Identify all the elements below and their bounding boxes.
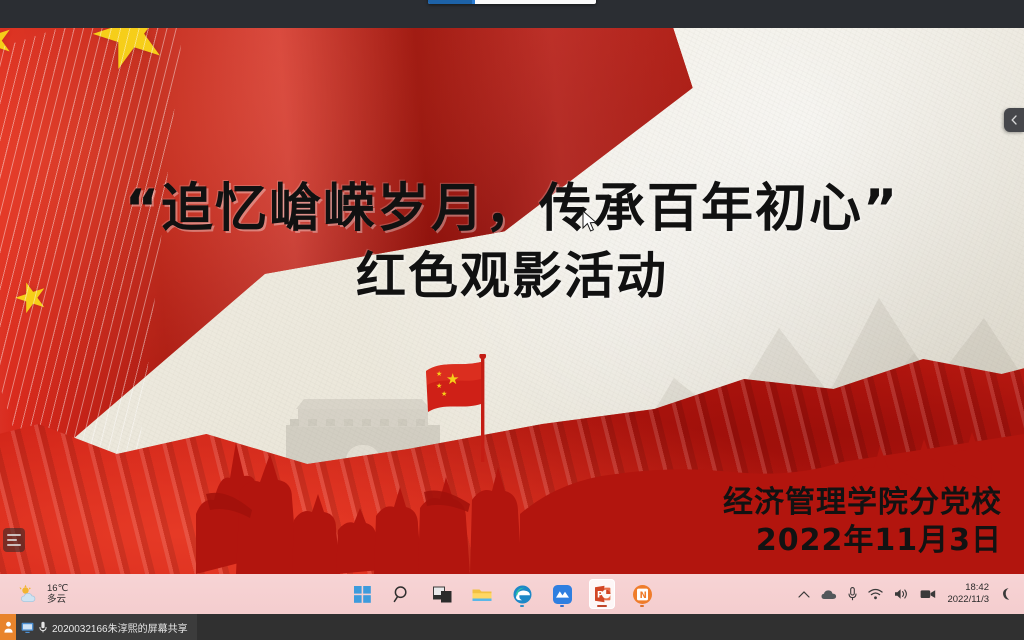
powerpoint-icon: P [594, 585, 611, 603]
cloud-icon [821, 589, 837, 600]
tencent-meeting-icon [553, 585, 572, 604]
task-view-button[interactable] [429, 579, 455, 609]
chevron-up-icon [798, 590, 810, 599]
slide-title-line-1: “追忆嵢嵘岁月，传承百年初心” [0, 178, 1024, 240]
slide-signature-block: 经济管理学院分党校 2022年11月3日 [723, 484, 1002, 560]
desktop-top-background [0, 0, 1024, 28]
edge-button[interactable] [509, 579, 535, 609]
slide-organization: 经济管理学院分党校 [723, 484, 1002, 522]
screen-share-bar[interactable]: 2020032166朱淳熙的屏幕共享 [0, 614, 1024, 640]
speaker-icon [894, 588, 909, 600]
chevron-left-glyph [1010, 115, 1018, 125]
show-hidden-icons[interactable] [798, 590, 810, 599]
screen-share-camera-icon [920, 588, 936, 600]
microphone-status[interactable] [848, 587, 857, 601]
screen-share-chip[interactable]: 2020032166朱淳熙的屏幕共享 [16, 614, 197, 640]
windows-taskbar[interactable]: 16℃ 多云 [0, 574, 1024, 614]
screen: ★ ★ ★ ★ ★ [0, 0, 1024, 640]
microphone-icon [848, 587, 857, 601]
system-tray: 18:42 2022/11/3 [784, 582, 1024, 606]
powerpoint-slide-show[interactable]: ★ ★ ★ ★ ★ [0, 28, 1024, 574]
taskbar-clock[interactable]: 18:42 2022/11/3 [947, 582, 989, 606]
moon-icon [1000, 587, 1012, 601]
svg-text:N: N [639, 590, 646, 600]
slide-date: 2022年11月3日 [723, 522, 1002, 560]
search-button[interactable] [389, 579, 415, 609]
meeting-toolbar-active-segment[interactable] [428, 0, 472, 4]
weather-temperature: 16℃ [47, 583, 68, 595]
start-button[interactable] [349, 579, 375, 609]
menu-line [7, 544, 21, 546]
active-window-indicator [597, 605, 607, 608]
running-indicator [560, 605, 564, 608]
powerpoint-button[interactable]: P [589, 579, 615, 609]
volume-status[interactable] [894, 588, 909, 600]
microphone-icon [39, 621, 47, 633]
notes-app-button[interactable]: N [629, 579, 655, 609]
network-status[interactable] [868, 588, 883, 600]
search-icon [393, 585, 411, 603]
menu-line [7, 539, 17, 541]
screen-share-label: 2020032166朱淳熙的屏幕共享 [52, 620, 188, 635]
meeting-toolbar-segment-divider [472, 0, 475, 4]
svg-text:P: P [597, 589, 603, 599]
slide-title-line-2: 红色观影活动 [0, 246, 1024, 306]
windows-logo-icon [354, 586, 371, 603]
onedrive-status[interactable] [821, 589, 837, 600]
hamburger-menu-icon[interactable] [3, 528, 25, 552]
onenote-icon: N [633, 585, 652, 604]
running-indicator [520, 605, 524, 608]
folder-icon [472, 586, 492, 603]
file-explorer-button[interactable] [469, 579, 495, 609]
clock-time: 18:42 [947, 582, 989, 594]
participant-glyph [4, 621, 13, 633]
taskbar-weather-widget[interactable]: 16℃ 多云 [0, 583, 220, 606]
clock-date: 2022/11/3 [947, 594, 989, 606]
meeting-app-button[interactable] [549, 579, 575, 609]
weather-text: 16℃ 多云 [47, 583, 68, 606]
screen-share-status[interactable] [920, 588, 936, 600]
chevron-left-icon[interactable] [1004, 108, 1024, 132]
slide-title-block: “追忆嵢嵘岁月，传承百年初心” 红色观影活动 [0, 178, 1024, 306]
floating-meeting-toolbar[interactable] [428, 0, 596, 4]
notification-bell[interactable] [1000, 587, 1012, 601]
edge-browser-icon [513, 585, 532, 604]
taskbar-app-icons: P N [220, 579, 784, 609]
monitor-icon [21, 622, 34, 633]
menu-line [7, 534, 21, 536]
wifi-icon [868, 588, 883, 600]
weather-condition: 多云 [47, 594, 68, 606]
running-indicator [640, 605, 644, 608]
participant-icon [0, 614, 16, 640]
sun-cloud-icon [18, 584, 40, 604]
task-view-icon [433, 586, 452, 603]
